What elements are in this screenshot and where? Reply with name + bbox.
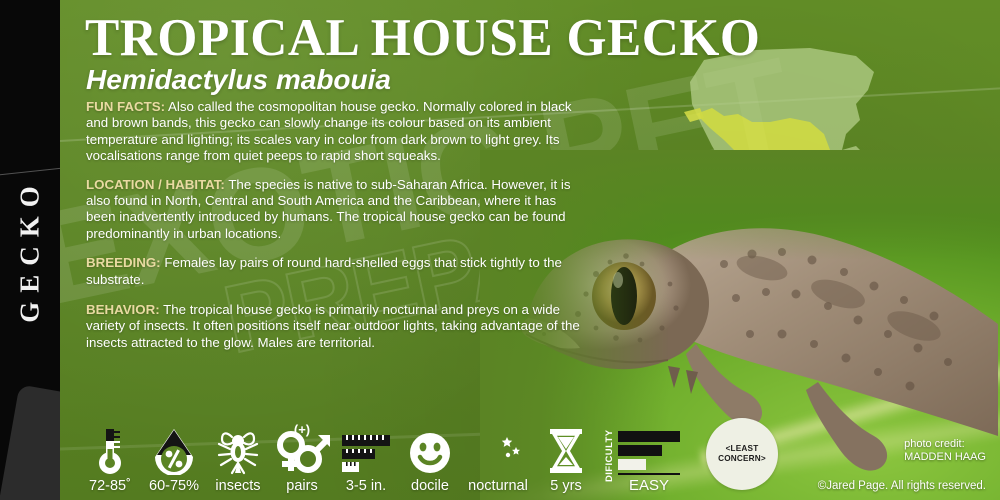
stat-diet: insects xyxy=(206,425,270,494)
difficulty-bars xyxy=(618,431,680,470)
spine-decor-shape xyxy=(0,384,60,500)
hourglass-icon xyxy=(546,425,586,475)
stat-value: 72-85˚ xyxy=(89,478,131,494)
section-label: BREEDING: xyxy=(86,255,161,270)
difficulty-meter: EASY xyxy=(618,431,680,494)
gecko-toe-b xyxy=(686,370,698,394)
difficulty-baseline xyxy=(618,473,680,475)
difficulty-level-label: EASY xyxy=(629,477,669,494)
stat-size: 3-5 in. xyxy=(334,425,398,494)
copyright-notice: ©Jared Page. All rights reserved. xyxy=(818,480,986,492)
insect-icon xyxy=(216,425,260,475)
photo-credit: photo credit: MADDEN HAAG xyxy=(904,438,986,464)
scientific-name: Hemidactylus mabouia xyxy=(86,66,391,94)
smiley-face-icon xyxy=(407,425,453,475)
stat-value: pairs xyxy=(286,478,317,494)
stat-value: docile xyxy=(411,478,449,494)
difficulty-bar-hard xyxy=(618,431,680,442)
main-panel: EXOTIC PET PREPARED xyxy=(60,0,1000,500)
thermometer-icon xyxy=(95,425,125,475)
stat-activity: nocturnal xyxy=(462,425,534,494)
stat-value: nocturnal xyxy=(468,478,528,494)
section-breeding: BREEDING: Females lay pairs of round har… xyxy=(86,255,586,288)
stat-humidity: 60-75% xyxy=(142,425,206,494)
stat-value: 5 yrs xyxy=(550,478,581,494)
stat-lifespan: 5 yrs xyxy=(534,425,598,494)
stat-value: 3-5 in. xyxy=(346,478,386,494)
stat-grouping: (+) pairs xyxy=(270,425,334,494)
stat-difficulty: DIFICULTY EASY xyxy=(604,431,680,494)
section-label: LOCATION / HABITAT: xyxy=(86,177,225,192)
section-behavior: BEHAVIOR: The tropical house gecko is pr… xyxy=(86,302,586,351)
spine-category-label: GECKO xyxy=(15,177,46,323)
section-label: BEHAVIOR: xyxy=(86,302,160,317)
species-info-label: GECKO EXOTIC PET PREPARED xyxy=(0,0,1000,500)
moon-stars-icon xyxy=(473,425,523,475)
category-spine: GECKO xyxy=(0,0,60,500)
section-location-habitat: LOCATION / HABITAT: The species is nativ… xyxy=(86,177,586,243)
status-badge: <LEAST CONCERN> xyxy=(706,444,778,464)
photo-credit-label: photo credit: xyxy=(904,438,986,451)
body-copy: FUN FACTS: Also called the cosmopolitan … xyxy=(86,99,586,363)
section-text: The tropical house gecko is primarily no… xyxy=(86,302,580,350)
ruler-icon xyxy=(340,425,392,475)
difficulty-axis-label: DIFICULTY xyxy=(604,431,615,481)
page-title: TROPICAL HOUSE GECKO xyxy=(85,12,760,65)
stat-temperature: 72-85˚ xyxy=(78,425,142,494)
photographer-name: MADDEN HAAG xyxy=(904,451,986,464)
stat-value: 60-75% xyxy=(149,478,199,494)
section-fun-facts: FUN FACTS: Also called the cosmopolitan … xyxy=(86,99,586,165)
care-stats-strip: 72-85˚ 60-75% xyxy=(78,425,680,494)
section-label: FUN FACTS: xyxy=(86,99,165,114)
pairs-plus-badge: (+) xyxy=(294,422,310,437)
stat-value: insects xyxy=(215,478,260,494)
difficulty-bar-medium xyxy=(618,445,662,456)
difficulty-bar-easy xyxy=(618,459,646,470)
spine-streak xyxy=(0,163,60,179)
stat-temperament: docile xyxy=(398,425,462,494)
conservation-status-badge: <LEAST CONCERN> xyxy=(706,418,778,490)
humidity-drop-icon xyxy=(153,425,195,475)
